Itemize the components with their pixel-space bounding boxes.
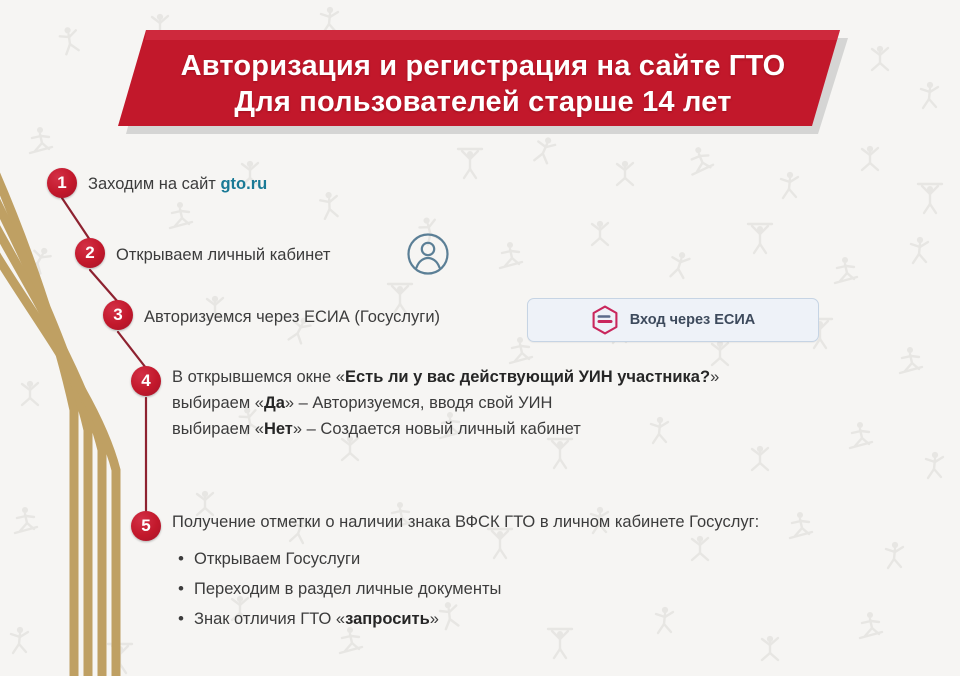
step-4-line-2: выбираем «Да» – Авторизуемся, вводя свой… [172,390,719,416]
banner-title-line-2: Для пользователей старше 14 лет [234,85,731,119]
infographic-canvas: Авторизация и регистрация на сайте ГТО Д… [0,0,960,676]
list-item: Переходим в раздел личные документы [172,574,759,604]
esia-login-button[interactable]: Вход через ЕСИА [527,298,819,342]
step-4-line-1: В открывшемся окне «Есть ли у вас действ… [172,364,719,390]
step-2-text: Открываем личный кабинет [116,243,330,268]
step-4-marker: 4 [131,366,161,396]
step-1-text: Заходим на сайт gto.ru [88,172,267,197]
step-2-marker: 2 [75,238,105,268]
list-item: Открываем Госуслуги [172,544,759,574]
step-4-line-3: выбираем «Нет» – Создается новый личный … [172,416,719,442]
step-1-number: 1 [57,173,66,193]
step-3-number: 3 [113,305,122,325]
account-circle-icon[interactable] [406,232,450,276]
step-4-number: 4 [141,371,150,391]
title-banner: Авторизация и регистрация на сайте ГТО Д… [118,30,848,138]
esia-button-label: Вход через ЕСИА [630,312,756,328]
step-5-lead-text: Получение отметки о наличии знака ВФСК Г… [172,509,759,535]
step-1-marker: 1 [47,168,77,198]
gosuslugi-logo-icon [591,305,619,335]
step-2-number: 2 [85,243,94,263]
step-1-text-before: Заходим на сайт [88,175,220,193]
banner-title-line-1: Авторизация и регистрация на сайте ГТО [181,49,786,83]
step-5-number: 5 [141,516,150,536]
list-item: Знак отличия ГТО «запросить» [172,604,759,634]
step-5-bullet-list: Открываем Госуслуги Переходим в раздел л… [172,544,759,634]
gto-site-link[interactable]: gto.ru [220,175,267,193]
step-3-marker: 3 [103,300,133,330]
step-4-text-block: В открывшемся окне «Есть ли у вас действ… [172,364,719,442]
step-5-marker: 5 [131,511,161,541]
step-3-text: Авторизуемся через ЕСИА (Госуслуги) [144,305,440,330]
step-5-text-block: Получение отметки о наличии знака ВФСК Г… [172,509,759,634]
